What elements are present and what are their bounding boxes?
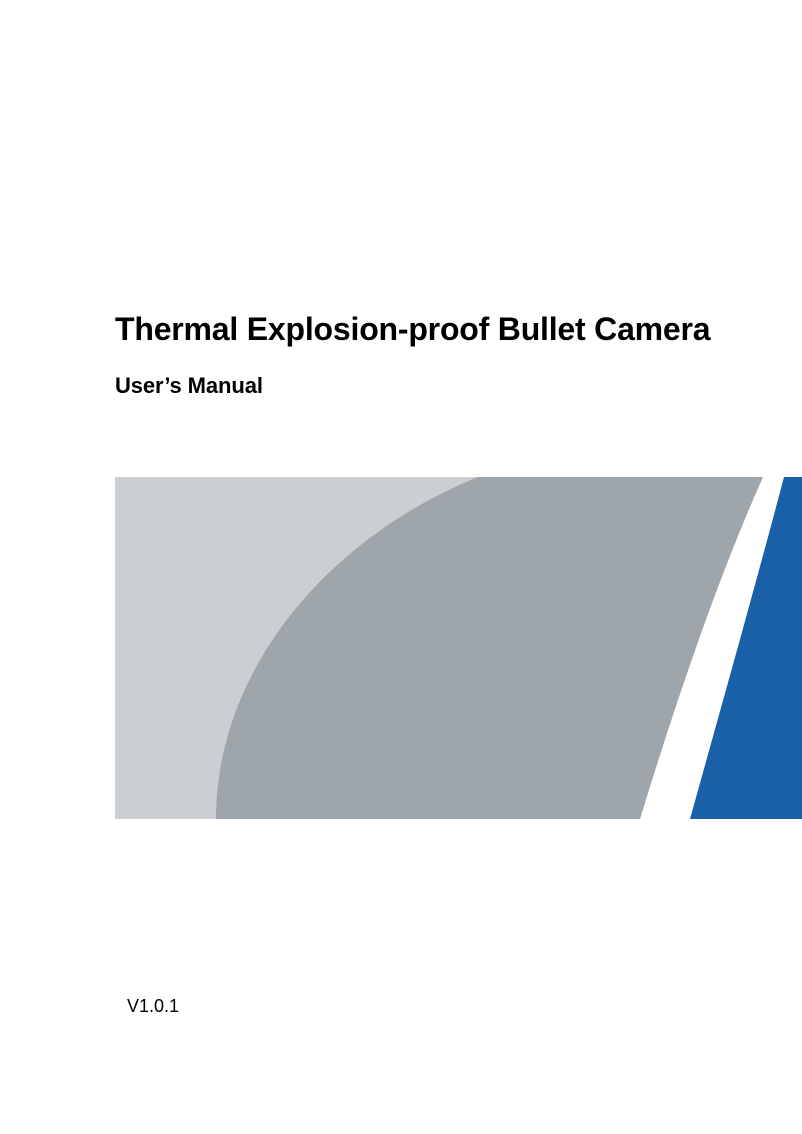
cover-page: Thermal Explosion-proof Bullet Camera Us… [0, 0, 802, 1134]
version-label: V1.0.1 [127, 994, 179, 1018]
banner-artwork [115, 477, 802, 819]
cover-banner-graphic [115, 477, 802, 819]
page-subtitle: User’s Manual [115, 372, 263, 400]
page-title: Thermal Explosion-proof Bullet Camera [115, 310, 710, 348]
